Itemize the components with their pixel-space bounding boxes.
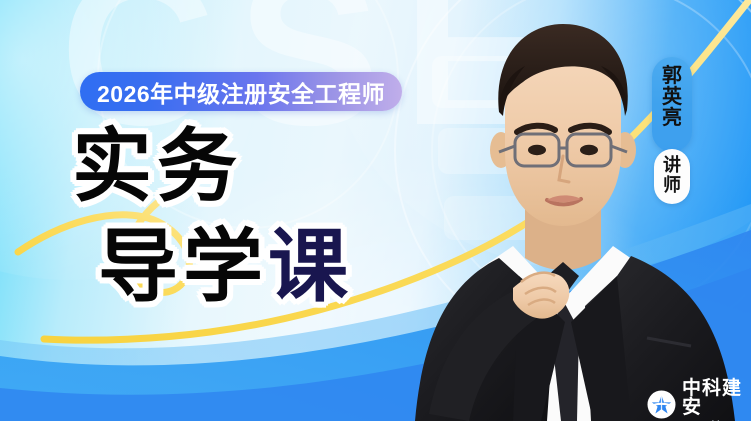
headline-line-1: 实务 [72,128,353,206]
brand-logo-text: 中科建安 www.zkjan.com [682,379,751,421]
instructor-name-char-3: 亮 [652,108,692,129]
course-poster: CSE [0,0,751,421]
instructor-role-char-1: 讲 [654,156,690,176]
portrait-illustration [395,0,751,421]
instructor-name-char-2: 英 [652,87,692,108]
brand-logo[interactable]: 中科建安 www.zkjan.com [647,379,751,421]
headline-block: 实务 导学课 [72,128,353,307]
instructor-name-plate: 郭 英 亮 [652,57,692,152]
instructor-name-char-1: 郭 [652,66,692,87]
instructor-tag: 郭 英 亮 讲 师 [652,57,692,152]
headline-line-2-main: 导学 [98,220,268,313]
instructor-role-char-2: 师 [654,176,690,196]
brand-name: 中科建安 [682,379,751,417]
headline-line-2-accent: 课 [268,220,353,313]
instructor-portrait [395,0,751,421]
course-badge-label: 2026年中级注册安全工程师 [97,75,385,109]
course-badge: 2026年中级注册安全工程师 [80,72,402,111]
zkjan-logo-icon [647,390,676,419]
instructor-role-plate: 讲 师 [654,149,690,204]
headline-line-2: 导学课 [98,228,353,306]
